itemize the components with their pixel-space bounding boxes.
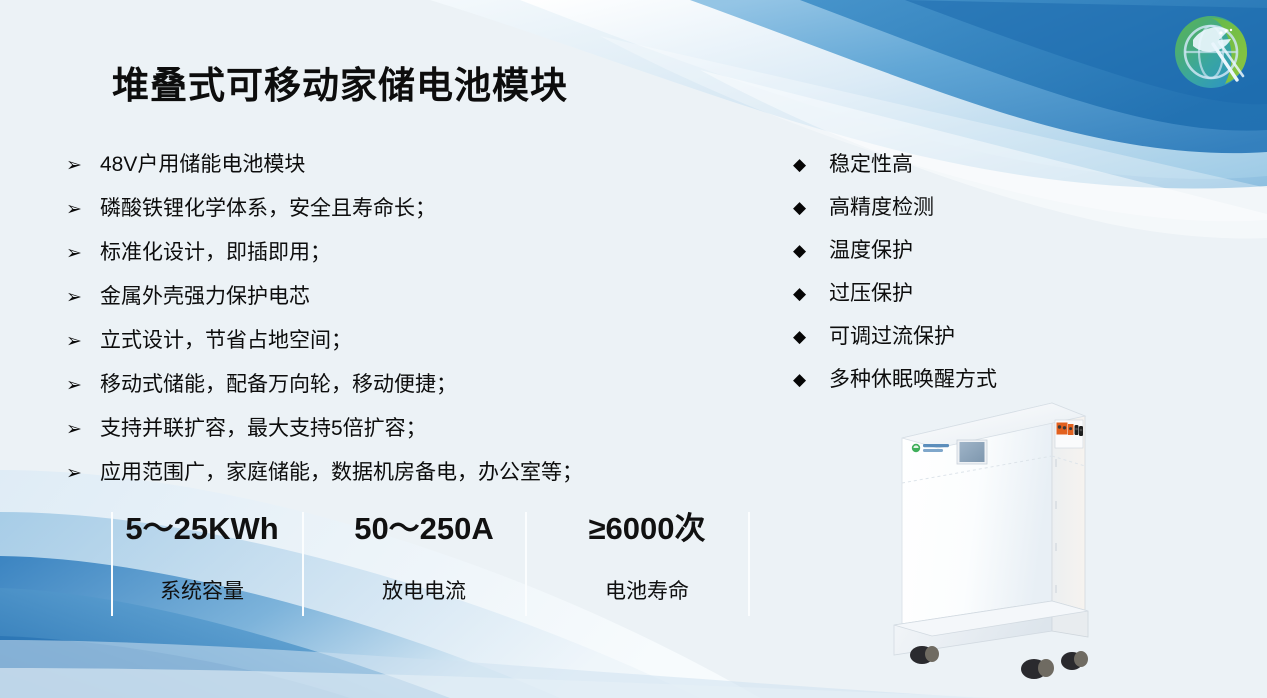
spec-stats-row: 5～25KWh 系统容量 50～250A 放电电流 ≥6000次 电池寿命 <box>112 508 752 618</box>
slide-title: 堆叠式可移动家储电池模块 <box>112 55 568 109</box>
stat-label: 系统容量 <box>97 577 307 607</box>
protection-text: 稳定性高 <box>829 150 913 180</box>
arrow-bullet-icon: ➢ <box>66 194 100 225</box>
stat-label: 电池寿命 <box>542 577 752 607</box>
stat-value: 50～250A <box>319 508 529 550</box>
diamond-bullet-icon: ◆ <box>793 236 829 266</box>
list-item: ➢ 应用范围广，家庭储能，数据机房备电，办公室等； <box>66 458 726 502</box>
feature-list: ➢ 48V户用储能电池模块 ➢ 磷酸铁锂化学体系，安全且寿命长； ➢ 标准化设计… <box>66 150 726 502</box>
diamond-bullet-icon: ◆ <box>793 365 829 395</box>
list-item: ➢ 金属外壳强力保护电芯 <box>66 282 726 326</box>
diamond-bullet-icon: ◆ <box>793 193 829 223</box>
list-item: ➢ 移动式储能，配备万向轮，移动便捷； <box>66 370 726 414</box>
presentation-slide: 堆叠式可移动家储电池模块 ➢ 48V户用储能电池模块 ➢ 磷酸铁锂化学体系，安全… <box>0 0 1267 698</box>
stat-block: 50～250A 放电电流 <box>319 508 529 607</box>
stat-block: ≥6000次 电池寿命 <box>542 508 752 607</box>
diamond-bullet-icon: ◆ <box>793 322 829 352</box>
product-terminal-panel <box>1055 420 1083 448</box>
protection-text: 高精度检测 <box>829 193 934 223</box>
stat-block: 5～25KWh 系统容量 <box>97 508 307 607</box>
feature-text: 立式设计，节省占地空间； <box>100 326 352 356</box>
protection-text: 可调过流保护 <box>829 322 955 352</box>
list-item: ◆ 可调过流保护 <box>793 322 1123 365</box>
feature-text: 应用范围广，家庭储能，数据机房备电，办公室等； <box>100 458 583 488</box>
arrow-bullet-icon: ➢ <box>66 458 100 489</box>
protection-text: 过压保护 <box>829 279 913 309</box>
protection-list: ◆ 稳定性高 ◆ 高精度检测 ◆ 温度保护 ◆ 过压保护 ◆ 可调过流保护 ◆ … <box>793 150 1123 408</box>
arrow-bullet-icon: ➢ <box>66 150 100 181</box>
list-item: ◆ 温度保护 <box>793 236 1123 279</box>
product-image-battery-cabinet <box>880 393 1112 685</box>
feature-text: 支持并联扩容，最大支持5倍扩容； <box>100 414 427 444</box>
arrow-bullet-icon: ➢ <box>66 370 100 401</box>
company-logo <box>1163 6 1259 98</box>
stat-label: 放电电流 <box>319 577 529 607</box>
product-display-panel <box>957 440 987 464</box>
feature-text: 移动式储能，配备万向轮，移动便捷； <box>100 370 457 400</box>
stat-value: ≥6000次 <box>542 508 752 550</box>
list-item: ➢ 立式设计，节省占地空间； <box>66 326 726 370</box>
arrow-bullet-icon: ➢ <box>66 238 100 269</box>
list-item: ➢ 磷酸铁锂化学体系，安全且寿命长； <box>66 194 726 238</box>
list-item: ◆ 过压保护 <box>793 279 1123 322</box>
feature-text: 48V户用储能电池模块 <box>100 150 305 180</box>
list-item: ➢ 48V户用储能电池模块 <box>66 150 726 194</box>
feature-text: 金属外壳强力保护电芯 <box>100 282 310 312</box>
product-castor-wheels <box>910 646 1088 679</box>
list-item: ➢ 支持并联扩容，最大支持5倍扩容； <box>66 414 726 458</box>
diamond-bullet-icon: ◆ <box>793 150 829 180</box>
protection-text: 多种休眠唤醒方式 <box>829 365 997 395</box>
feature-text: 磷酸铁锂化学体系，安全且寿命长； <box>100 194 436 224</box>
diamond-bullet-icon: ◆ <box>793 279 829 309</box>
protection-text: 温度保护 <box>829 236 913 266</box>
feature-text: 标准化设计，即插即用； <box>100 238 331 268</box>
arrow-bullet-icon: ➢ <box>66 282 100 313</box>
list-item: ◆ 稳定性高 <box>793 150 1123 193</box>
stat-value: 5～25KWh <box>97 508 307 550</box>
list-item: ◆ 高精度检测 <box>793 193 1123 236</box>
list-item: ➢ 标准化设计，即插即用； <box>66 238 726 282</box>
arrow-bullet-icon: ➢ <box>66 326 100 357</box>
arrow-bullet-icon: ➢ <box>66 414 100 445</box>
